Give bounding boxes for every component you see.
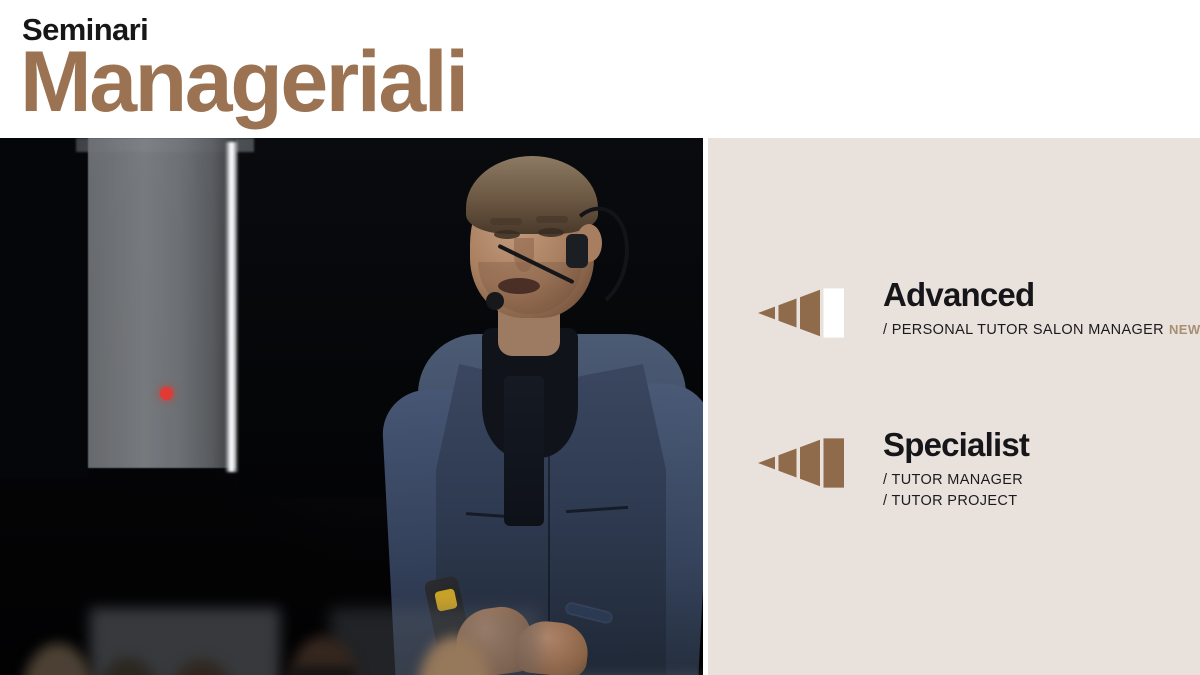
level-title: Advanced bbox=[883, 276, 1200, 315]
level-text-specialist: Specialist / TUTOR MANAGER / TUTOR PROJE… bbox=[883, 426, 1029, 511]
status-badge: NEW bbox=[1169, 322, 1200, 337]
page-title: Manageriali bbox=[20, 36, 467, 129]
red-indicator-light bbox=[160, 387, 173, 400]
level-course-label: / TUTOR PROJECT bbox=[883, 491, 1029, 512]
stage-pillar bbox=[88, 138, 236, 468]
level-course-list: / TUTOR MANAGER / TUTOR PROJECT bbox=[883, 470, 1029, 511]
page-header: Seminari Manageriali bbox=[0, 0, 1200, 138]
headset-mic-earpod-icon bbox=[566, 234, 588, 268]
levels-panel: Advanced / PERSONAL TUTOR SALON MANAGERN… bbox=[708, 138, 1200, 675]
speaker-mouth bbox=[498, 278, 540, 294]
speaker-figure bbox=[370, 138, 703, 675]
stage-light-strip bbox=[225, 142, 238, 472]
level-course-label: / TUTOR MANAGER bbox=[883, 470, 1029, 491]
speaker-eye-right bbox=[538, 228, 564, 237]
wedge-arrow-icon bbox=[758, 438, 844, 488]
speaker-tie bbox=[504, 376, 544, 526]
backdrop-left-dark bbox=[0, 138, 88, 478]
headset-mic-capsule-icon bbox=[486, 292, 504, 310]
level-course-label: / PERSONAL TUTOR SALON MANAGER bbox=[883, 322, 1164, 338]
level-text-advanced: Advanced / PERSONAL TUTOR SALON MANAGERN… bbox=[883, 276, 1200, 341]
audience-glasses-5 bbox=[290, 668, 356, 675]
wedge-arrow-icon bbox=[758, 288, 844, 338]
level-title: Specialist bbox=[883, 426, 1029, 465]
level-course-row: / PERSONAL TUTOR SALON MANAGERNEW bbox=[883, 320, 1200, 341]
level-course-list: / PERSONAL TUTOR SALON MANAGERNEW bbox=[883, 320, 1200, 341]
stage-photo bbox=[0, 138, 703, 675]
speaker-brow-left bbox=[490, 218, 522, 225]
speaker-brow-right bbox=[536, 216, 568, 223]
